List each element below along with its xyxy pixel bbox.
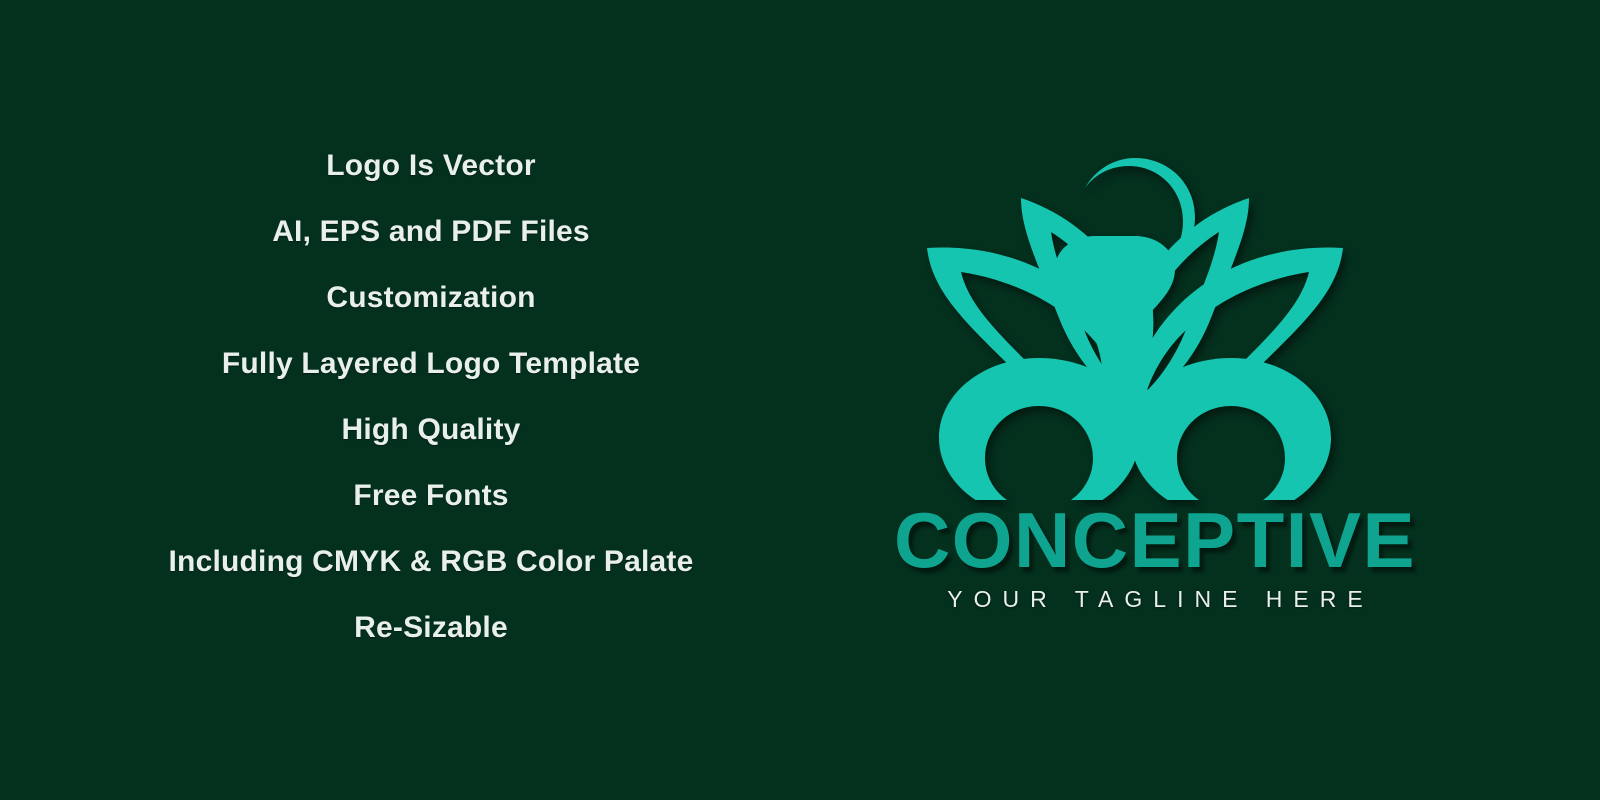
feature-item-color-palate: Including CMYK & RGB Color Palate: [169, 529, 694, 595]
brand-tagline: YOUR TAGLINE HERE: [855, 585, 1455, 613]
logo-preview-canvas: Logo Is Vector AI, EPS and PDF Files Cus…: [0, 0, 1600, 800]
feature-item-logo-is-vector: Logo Is Vector: [326, 133, 536, 199]
feature-item-customization: Customization: [326, 265, 535, 331]
feature-item-high-quality: High Quality: [341, 397, 520, 463]
feature-item-fully-layered: Fully Layered Logo Template: [222, 331, 640, 397]
feature-item-free-fonts: Free Fonts: [353, 463, 508, 529]
brand-name: CONCEPTIVE: [855, 498, 1455, 582]
feature-item-re-sizable: Re-Sizable: [354, 595, 508, 661]
logo-lockup: CONCEPTIVE YOUR TAGLINE HERE: [855, 140, 1455, 640]
feature-item-file-formats: AI, EPS and PDF Files: [272, 199, 590, 265]
feature-list: Logo Is Vector AI, EPS and PDF Files Cus…: [0, 133, 862, 661]
lotus-meditation-icon: [915, 140, 1355, 500]
